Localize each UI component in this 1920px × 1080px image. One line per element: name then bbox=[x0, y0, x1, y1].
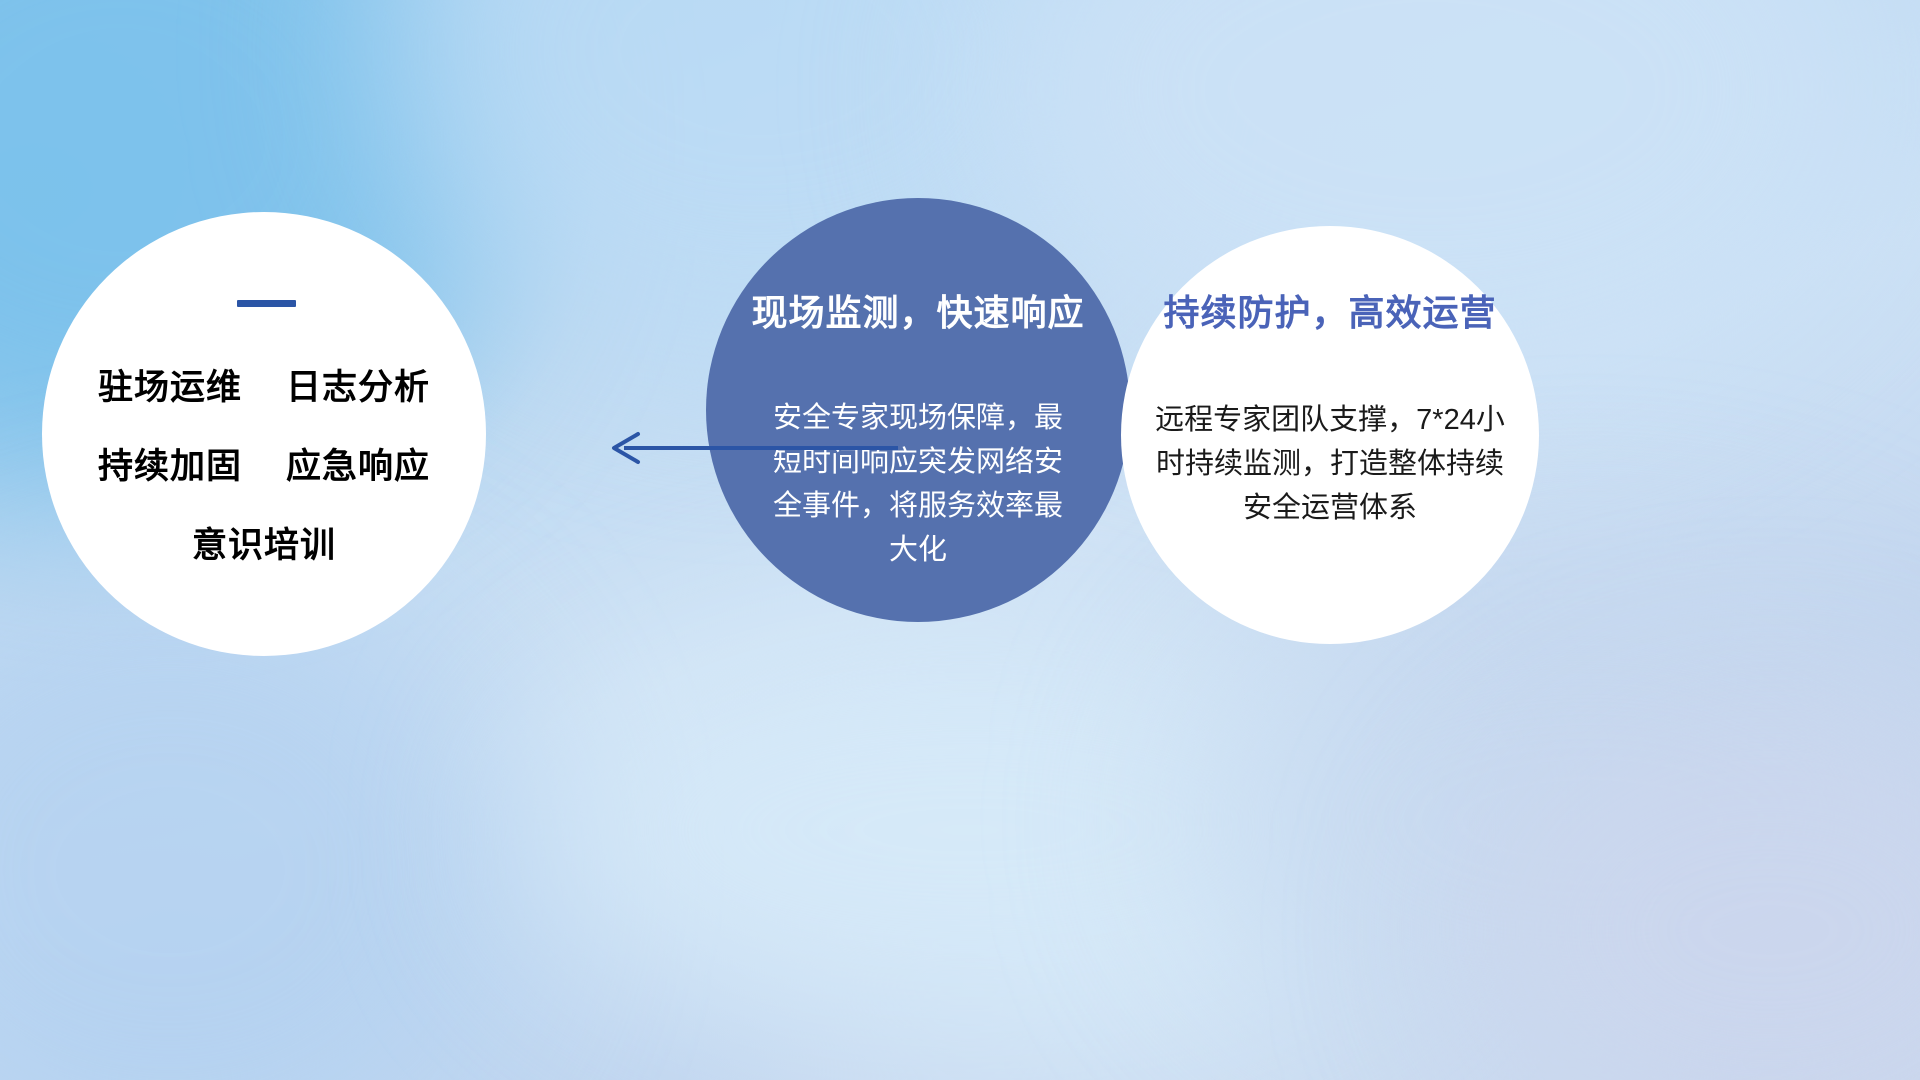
capability-tag: 应急响应 bbox=[286, 438, 430, 489]
service-circle-middle: 现场监测，快速响应 安全专家现场保障，最短时间响应突发网络安全事件，将服务效率最… bbox=[706, 198, 1130, 622]
service-circle-right-title: 持续防护，高效运营 bbox=[1163, 284, 1496, 336]
background-blob-bottomcenter bbox=[520, 620, 1420, 1040]
background-blob-farright bbox=[1460, 700, 1920, 1080]
service-circle-right-body: 远程专家团队支撑，7*24小时持续监测，打造整体持续安全运营体系 bbox=[1150, 398, 1510, 530]
capability-tag-row: 意识培训 bbox=[192, 517, 336, 568]
capability-circle-left: 驻场运维 日志分析 持续加固 应急响应 意识培训 bbox=[42, 212, 486, 656]
capability-tag-row: 持续加固 应急响应 bbox=[98, 438, 430, 489]
divider-dash-icon bbox=[237, 300, 296, 307]
service-circle-right: 持续防护，高效运营 远程专家团队支撑，7*24小时持续监测，打造整体持续安全运营… bbox=[1121, 226, 1539, 644]
slide-canvas: 驻场运维 日志分析 持续加固 应急响应 意识培训 现场监测，快速响应 安全专家现… bbox=[0, 0, 1920, 1080]
capability-tag: 持续加固 bbox=[98, 438, 242, 489]
capability-tag-list: 驻场运维 日志分析 持续加固 应急响应 意识培训 bbox=[42, 359, 486, 568]
service-circle-middle-title: 现场监测，快速响应 bbox=[751, 284, 1084, 336]
capability-tag-row: 驻场运维 日志分析 bbox=[98, 359, 430, 410]
flow-arrow-left-icon bbox=[598, 418, 898, 478]
capability-tag: 驻场运维 bbox=[98, 359, 242, 410]
capability-tag: 意识培训 bbox=[192, 517, 336, 568]
capability-tag: 日志分析 bbox=[286, 359, 430, 410]
